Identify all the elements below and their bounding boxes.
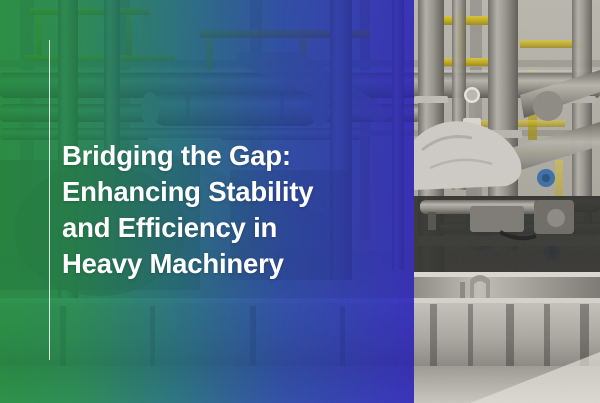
headline-line-4: Heavy Machinery xyxy=(62,246,392,282)
headline-line-2: Enhancing Stability xyxy=(62,174,392,210)
page-title: Bridging the Gap: Enhancing Stability an… xyxy=(62,138,392,282)
headline-line-1: Bridging the Gap: xyxy=(62,138,392,174)
hero-banner: Bridging the Gap: Enhancing Stability an… xyxy=(0,0,600,403)
vertical-rule-decoration xyxy=(49,40,50,360)
headline-line-3: and Efficiency in xyxy=(62,210,392,246)
